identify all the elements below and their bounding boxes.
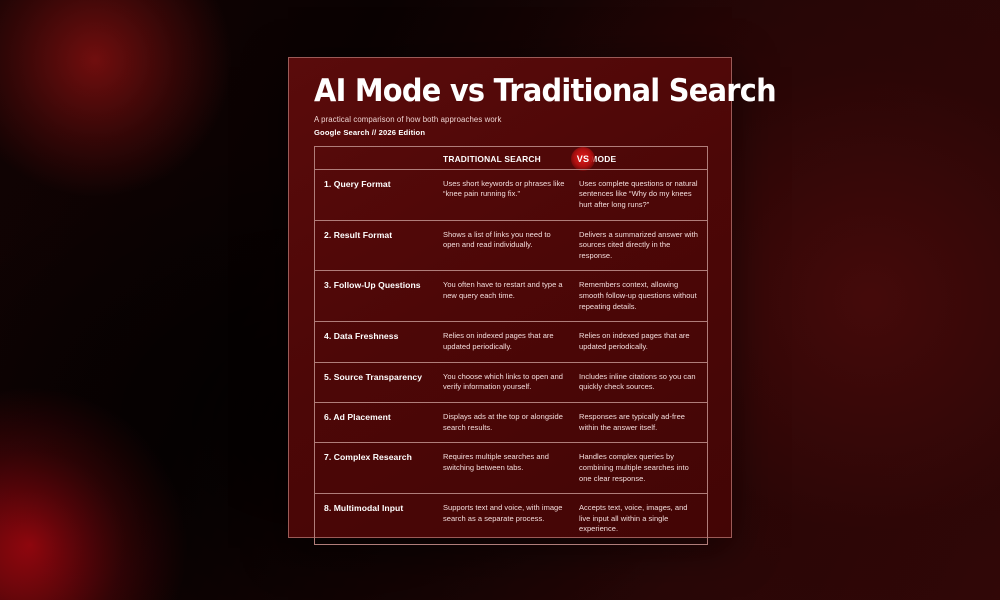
row-feature: 2. Result Format — [315, 221, 443, 271]
header-cell-traditional: TRADITIONAL SEARCH — [443, 147, 579, 169]
row-traditional: You often have to restart and type a new… — [443, 271, 579, 321]
row-feature: 1. Query Format — [315, 170, 443, 220]
row-ai: Responses are typically ad-free within t… — [579, 403, 707, 442]
row-feature: 3. Follow-Up Questions — [315, 271, 443, 321]
row-ai: Relies on indexed pages that are updated… — [579, 322, 707, 361]
vs-badge-label: VS — [577, 154, 590, 164]
row-ai: Includes inline citations so you can qui… — [579, 363, 707, 402]
row-traditional: Relies on indexed pages that are updated… — [443, 322, 579, 361]
table-row: 7. Complex Research Requires multiple se… — [315, 442, 707, 493]
row-ai: Remembers context, allowing smooth follo… — [579, 271, 707, 321]
table-header-row: TRADITIONAL SEARCH AI MODE VS — [315, 147, 707, 169]
edition-label: Google Search // 2026 Edition — [314, 128, 706, 137]
row-feature: 5. Source Transparency — [315, 363, 443, 402]
table-row: 4. Data Freshness Relies on indexed page… — [315, 321, 707, 361]
row-traditional: Supports text and voice, with image sear… — [443, 494, 579, 544]
comparison-card: AI Mode vs Traditional Search A practica… — [288, 57, 732, 538]
table-row: 5. Source Transparency You choose which … — [315, 362, 707, 402]
header-cell-feature — [315, 147, 443, 169]
comparison-table: TRADITIONAL SEARCH AI MODE VS 1. Query F… — [314, 146, 708, 545]
table-row: 8. Multimodal Input Supports text and vo… — [315, 493, 707, 544]
table-row: 6. Ad Placement Displays ads at the top … — [315, 402, 707, 442]
row-ai: Accepts text, voice, images, and live in… — [579, 494, 707, 544]
table-row: 2. Result Format Shows a list of links y… — [315, 220, 707, 271]
table-row: 1. Query Format Uses short keywords or p… — [315, 169, 707, 220]
header-cell-ai: AI MODE — [579, 147, 707, 169]
row-traditional: Displays ads at the top or alongside sea… — [443, 403, 579, 442]
row-ai: Delivers a summarized answer with source… — [579, 221, 707, 271]
row-feature: 4. Data Freshness — [315, 322, 443, 361]
row-feature: 6. Ad Placement — [315, 403, 443, 442]
row-ai: Uses complete questions or natural sente… — [579, 170, 707, 220]
row-traditional: Shows a list of links you need to open a… — [443, 221, 579, 271]
row-traditional: You choose which links to open and verif… — [443, 363, 579, 402]
vs-badge-icon: VS — [571, 147, 595, 171]
page-title: AI Mode vs Traditional Search — [314, 76, 679, 108]
row-traditional: Uses short keywords or phrases like “kne… — [443, 170, 579, 220]
row-traditional: Requires multiple searches and switching… — [443, 443, 579, 493]
row-ai: Handles complex queries by combining mul… — [579, 443, 707, 493]
table-row: 3. Follow-Up Questions You often have to… — [315, 270, 707, 321]
row-feature: 8. Multimodal Input — [315, 494, 443, 544]
page-subtitle: A practical comparison of how both appro… — [314, 115, 706, 124]
row-feature: 7. Complex Research — [315, 443, 443, 493]
